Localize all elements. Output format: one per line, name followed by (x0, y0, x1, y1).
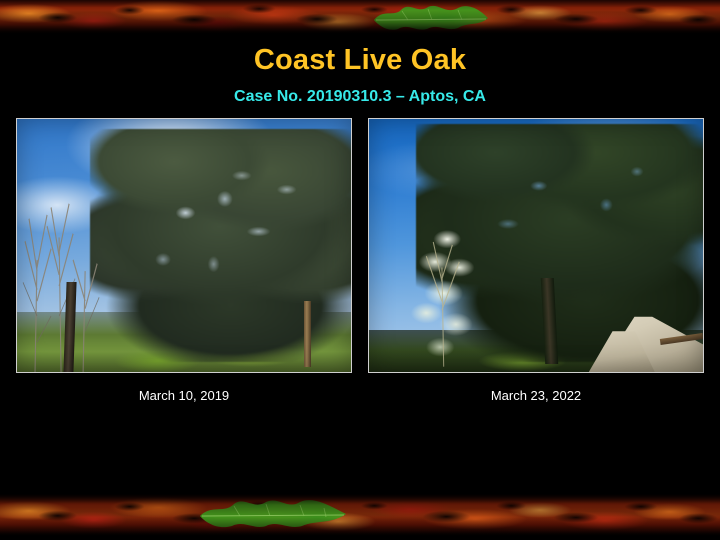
case-subtitle: Case No. 20190310.3 – Aptos, CA (0, 87, 720, 107)
fence-post (304, 301, 311, 367)
photo-2022 (368, 118, 704, 373)
photo-caption-2019: March 10, 2019 (16, 388, 352, 404)
decorative-border-top (0, 0, 720, 34)
photo-caption-2022: March 23, 2022 (368, 388, 704, 404)
photo-2022-image (369, 119, 703, 372)
photo-2019-image (17, 119, 351, 372)
slide-canvas: Coast Live Oak Case No. 20190310.3 – Apt… (0, 0, 720, 540)
border-fade-bottom (0, 494, 720, 536)
border-texture-top (0, 0, 720, 34)
bare-sapling-group (17, 185, 117, 372)
photo-2019 (16, 118, 352, 373)
canopy-sky-gaps (90, 129, 352, 362)
border-fade-top (0, 0, 720, 34)
flowering-tree (402, 225, 489, 367)
page-title: Coast Live Oak (0, 43, 720, 77)
border-texture-bottom (0, 494, 720, 536)
blossom-branches-icon (402, 225, 489, 367)
canvas-tent (576, 306, 703, 372)
decorative-border-bottom (0, 494, 720, 536)
